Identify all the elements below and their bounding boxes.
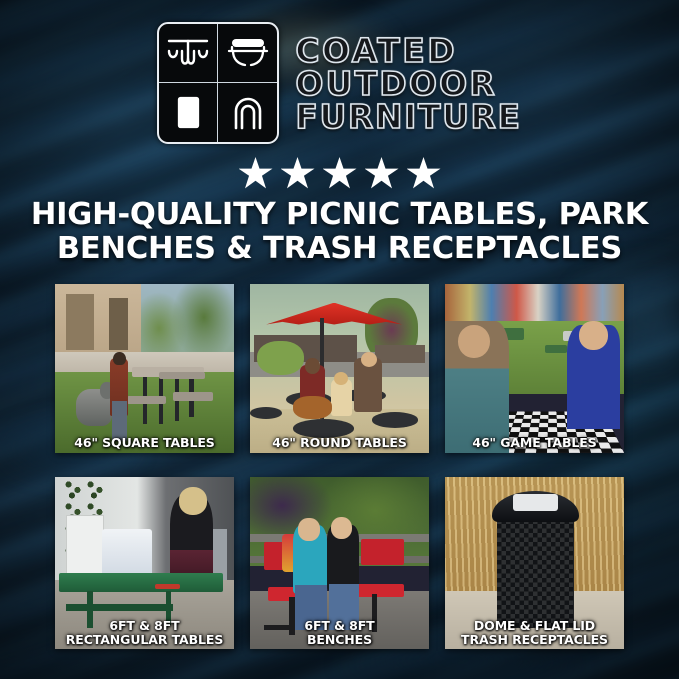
product-caption: 6FT & 8FT BENCHES bbox=[252, 619, 427, 646]
product-card-square-tables[interactable]: 46" SQUARE TABLES bbox=[55, 284, 234, 453]
picnic-table-icon bbox=[159, 24, 218, 83]
star-icon bbox=[365, 157, 399, 190]
star-icon bbox=[323, 157, 357, 190]
brand-logo: COATED OUTDOOR FURNITURE bbox=[0, 22, 679, 144]
headline: HIGH-QUALITY PICNIC TABLES, PARK BENCHES… bbox=[24, 198, 655, 266]
product-card-trash-receptacles[interactable]: DOME & FLAT LID TRASH RECEPTACLES bbox=[445, 477, 624, 649]
headline-line-1: HIGH-QUALITY PICNIC TABLES, PARK bbox=[24, 198, 655, 232]
product-photo-square-tables bbox=[55, 284, 234, 453]
product-card-rectangular-tables[interactable]: 6FT & 8FT RECTANGULAR TABLES bbox=[55, 477, 234, 649]
trash-receptacle-icon bbox=[159, 83, 218, 142]
logo-mark-icon-grid bbox=[157, 22, 279, 144]
product-caption: 46" SQUARE TABLES bbox=[57, 436, 232, 450]
brand-line-outdoor: OUTDOOR bbox=[295, 68, 497, 100]
product-card-round-tables[interactable]: 46" ROUND TABLES bbox=[250, 284, 429, 453]
star-icon bbox=[407, 157, 441, 190]
bike-rack-arch-icon bbox=[218, 83, 277, 142]
promotional-poster: COATED OUTDOOR FURNITURE HIGH-QUALITY PI… bbox=[0, 0, 679, 679]
star-icon bbox=[281, 157, 315, 190]
park-bench-icon bbox=[218, 24, 277, 83]
product-photo-round-tables bbox=[250, 284, 429, 453]
brand-line-furniture: FURNITURE bbox=[295, 101, 521, 133]
product-photo-game-tables bbox=[445, 284, 624, 453]
brand-line-coated: COATED bbox=[295, 35, 457, 67]
rating-stars bbox=[0, 157, 679, 190]
headline-line-2: BENCHES & TRASH RECEPTACLES bbox=[24, 232, 655, 266]
product-card-benches[interactable]: 6FT & 8FT BENCHES bbox=[250, 477, 429, 649]
product-card-game-tables[interactable]: 46" GAME TABLES bbox=[445, 284, 624, 453]
product-caption: 46" ROUND TABLES bbox=[252, 436, 427, 450]
product-caption: DOME & FLAT LID TRASH RECEPTACLES bbox=[447, 619, 622, 646]
poster-content: COATED OUTDOOR FURNITURE HIGH-QUALITY PI… bbox=[0, 0, 679, 679]
product-caption: 6FT & 8FT RECTANGULAR TABLES bbox=[57, 619, 232, 646]
brand-wordmark: COATED OUTDOOR FURNITURE bbox=[295, 35, 521, 133]
product-photo-grid: 46" SQUARE TABLES bbox=[55, 284, 624, 649]
product-caption: 46" GAME TABLES bbox=[447, 436, 622, 450]
star-icon bbox=[239, 157, 273, 190]
